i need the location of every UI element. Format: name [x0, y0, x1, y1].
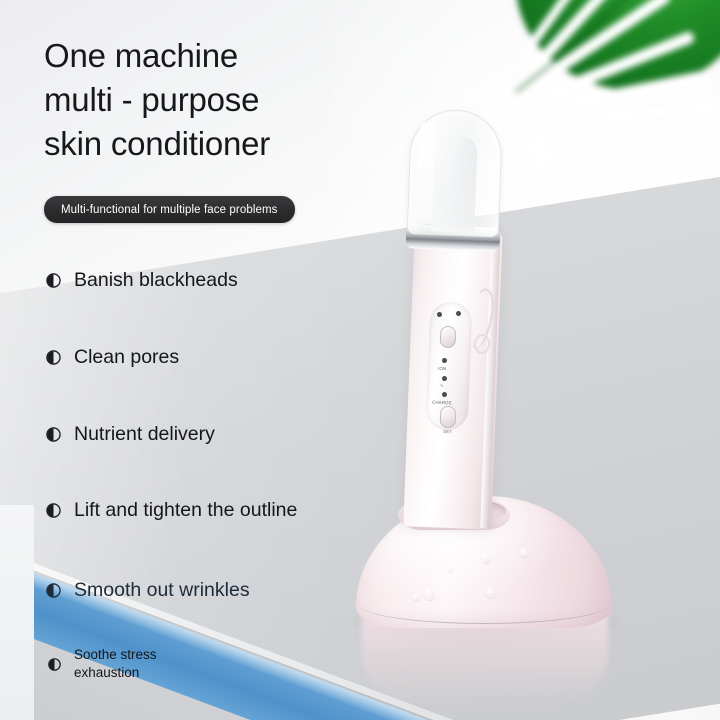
- feature-label: Lift and tighten the outline: [74, 498, 297, 522]
- half-moon-bullet-icon: [48, 658, 61, 671]
- page-title: One machine multi - purpose skin conditi…: [44, 34, 374, 166]
- half-moon-bullet-icon: [46, 503, 61, 518]
- half-moon-bullet-icon: [46, 350, 61, 365]
- feature-item: Clean pores: [46, 345, 179, 369]
- subtitle-badge-label: Multi-functional for multiple face probl…: [61, 204, 278, 216]
- feature-item: Lift and tighten the outline: [46, 498, 297, 522]
- subtitle-badge: Multi-functional for multiple face probl…: [44, 196, 295, 223]
- feature-item: Soothe stress exhaustion: [48, 646, 204, 682]
- feature-label: Banish blackheads: [74, 268, 238, 292]
- headline-line-1: One machine: [44, 34, 374, 78]
- half-moon-bullet-icon: [46, 583, 61, 598]
- feature-label: Soothe stress exhaustion: [74, 646, 204, 682]
- feature-item: Banish blackheads: [46, 268, 238, 292]
- feature-label: Smooth out wrinkles: [74, 578, 250, 602]
- headline-line-2: multi - purpose: [44, 78, 374, 122]
- half-moon-bullet-icon: [46, 273, 61, 288]
- headline-line-3: skin conditioner: [44, 122, 374, 166]
- product-poster: ION ∿ CHARGE SET One machine multi - pur…: [0, 0, 720, 720]
- feature-item: Smooth out wrinkles: [46, 578, 250, 602]
- feature-label: Clean pores: [74, 345, 179, 369]
- feature-item: Nutrient delivery: [46, 422, 215, 446]
- poster-content: One machine multi - purpose skin conditi…: [0, 0, 720, 720]
- feature-label: Nutrient delivery: [74, 422, 215, 446]
- half-moon-bullet-icon: [46, 427, 61, 442]
